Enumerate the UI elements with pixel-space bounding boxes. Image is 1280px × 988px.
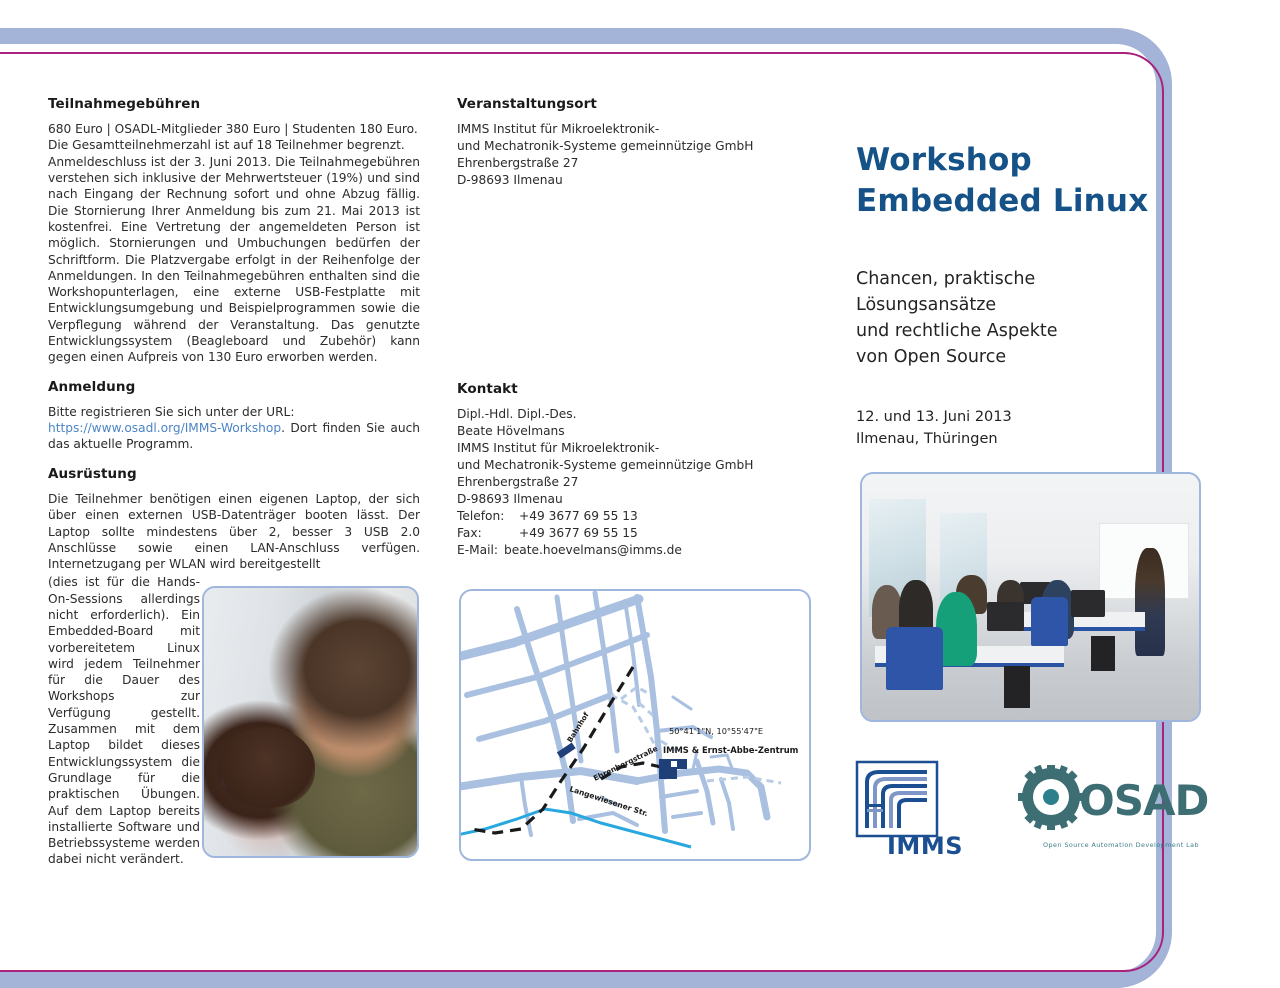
page-title-line-2: Embedded Linux [856, 181, 1206, 222]
registration-intro: Bitte registrieren Sie sich unter der UR… [48, 404, 420, 420]
heading-equipment: Ausrüstung [48, 466, 420, 482]
photo-pc-tower-2 [1091, 636, 1115, 670]
photo-chair-back [1031, 597, 1068, 646]
photo-monitor-front [987, 602, 1024, 632]
fees-price-line-2: Die Gesamtteilnehmerzahl ist auf 18 Teil… [48, 137, 420, 153]
photo-two-people-image [204, 588, 417, 856]
subtitle-line-3: und rechtliche Aspekte [856, 318, 1206, 344]
equipment-body-wrap: (dies ist für die Hands-On-Sessions alle… [48, 574, 200, 867]
subtitle-line-4: von Open Source [856, 344, 1206, 370]
event-date: 12. und 13. Juni 2013 [856, 406, 1206, 428]
photo-pc-tower-1 [1004, 666, 1031, 708]
contact-email-label: E-Mail: [457, 542, 504, 559]
registration-url-link[interactable]: https://www.osadl.org/IMMS-Workshop [48, 421, 281, 435]
contact-fax-row: Fax: +49 3677 69 55 15 [457, 525, 809, 542]
event-location: Ilmenau, Thüringen [856, 428, 1206, 450]
contact-phone-row: Telefon: +49 3677 69 55 13 [457, 508, 809, 525]
contact-email-value[interactable]: beate.hoevelmans@imms.de [504, 542, 682, 559]
photo-monitor-mid [1071, 590, 1105, 617]
heading-fees: Teilnahmegebühren [48, 96, 420, 112]
osadl-mark-icon: OSADL [1013, 765, 1209, 835]
contact-phone-label: Telefon: [457, 508, 519, 525]
venue-line-3: Ehrenbergstraße 27 [457, 155, 809, 172]
event-date-block: 12. und 13. Juni 2013 Ilmenau, Thüringen [856, 406, 1206, 450]
map-coordinates-label: 50°41'1"N, 10°55'47"E [669, 726, 763, 736]
contact-email-row: E-Mail: beate.hoevelmans@imms.de [457, 542, 809, 559]
photo-chair-front [886, 627, 943, 691]
subtitle-block: Chancen, praktische Lösungsansätze und r… [856, 266, 1206, 370]
imms-wordmark: IMMS [887, 832, 963, 860]
contact-phone-value: +49 3677 69 55 13 [519, 508, 638, 525]
location-map[interactable]: 50°41'1"N, 10°55'47"E IMMS & Ernst-Abbe-… [459, 589, 811, 861]
contact-line-1: Dipl.-Hdl. Dipl.-Des. [457, 406, 809, 423]
subtitle-line-2: Lösungsansätze [856, 292, 1206, 318]
venue-line-4: D-98693 Ilmenau [457, 172, 809, 189]
contact-line-4: und Mechatronik-Systeme gemeinnützige Gm… [457, 457, 809, 474]
logo-osadl: OSADL Open Source Automation Development… [1013, 765, 1209, 850]
photo-presenter [1135, 548, 1165, 656]
heading-venue: Veranstaltungsort [457, 96, 809, 112]
venue-address: IMMS Institut für Mikroelektronik- und M… [457, 121, 809, 189]
map-marker-label: IMMS & Ernst-Abbe-Zentrum [663, 745, 799, 755]
contact-line-2: Beate Hövelmans [457, 423, 809, 440]
fees-price-line-1: 680 Euro | OSADL-Mitglieder 380 Euro | S… [48, 121, 420, 137]
photo-classroom-image [862, 474, 1199, 720]
photo-two-people [202, 586, 419, 858]
imms-mark-icon [855, 760, 943, 840]
subtitle-line-1: Chancen, praktische [856, 266, 1206, 292]
glasses-highlight [220, 761, 302, 788]
contact-fax-label: Fax: [457, 525, 519, 542]
contact-line-5: Ehrenbergstraße 27 [457, 474, 809, 491]
heading-registration: Anmeldung [48, 379, 420, 395]
registration-url-paragraph: https://www.osadl.org/IMMS-Workshop. Dor… [48, 420, 420, 453]
photo-classroom [860, 472, 1201, 722]
equipment-body-top: Die Teilnehmer benötigen einen eigenen L… [48, 491, 420, 572]
contact-address: Dipl.-Hdl. Dipl.-Des. Beate Hövelmans IM… [457, 406, 809, 559]
osadl-wordmark: OSADL [1079, 776, 1209, 825]
venue-line-2: und Mechatronik-Systeme gemeinnützige Gm… [457, 138, 809, 155]
fees-body-text: Anmeldeschluss ist der 3. Juni 2013. Die… [48, 154, 420, 366]
venue-line-1: IMMS Institut für Mikroelektronik- [457, 121, 809, 138]
contact-fax-value: +49 3677 69 55 15 [519, 525, 638, 542]
osadl-tagline: Open Source Automation Development Lab [1043, 841, 1199, 849]
middle-column: Veranstaltungsort IMMS Institut für Mikr… [457, 96, 809, 559]
location-map-svg: 50°41'1"N, 10°55'47"E IMMS & Ernst-Abbe-… [461, 591, 805, 855]
page-title-line-1: Workshop [856, 140, 1206, 181]
heading-contact: Kontakt [457, 381, 809, 397]
flyer-page: Teilnahmegebühren 680 Euro | OSADL-Mitgl… [0, 0, 1280, 905]
contact-line-6: D-98693 Ilmenau [457, 491, 809, 508]
contact-line-3: IMMS Institut für Mikroelektronik- [457, 440, 809, 457]
logo-imms: IMMS [855, 760, 965, 860]
right-column: Workshop Embedded Linux Chancen, praktis… [856, 96, 1206, 450]
